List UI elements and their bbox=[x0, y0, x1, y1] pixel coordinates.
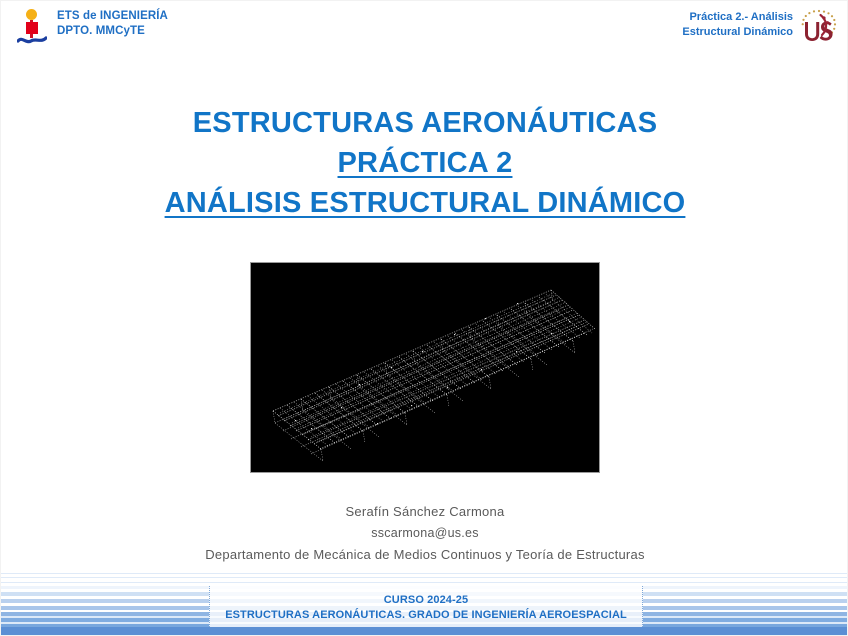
author-name: Serafín Sánchez Carmona bbox=[1, 501, 848, 523]
etsi-logo-square bbox=[26, 22, 38, 34]
title-block: ESTRUCTURAS AERONÁUTICAS PRÁCTICA 2 ANÁL… bbox=[1, 103, 848, 223]
author-department: Departamento de Mecánica de Medios Conti… bbox=[1, 544, 848, 566]
slide-footer: CURSO 2024-25 ESTRUCTURAS AERONÁUTICAS. … bbox=[1, 573, 848, 635]
header-department-code: DPTO. MMCyTE bbox=[57, 24, 168, 39]
header-practice-line1: Práctica 2.- Análisis bbox=[682, 10, 793, 25]
header-right-group: Práctica 2.- Análisis Estructural Dinámi… bbox=[682, 7, 839, 49]
header-right-text: Práctica 2.- Análisis Estructural Dinámi… bbox=[682, 7, 793, 39]
author-email: sscarmona@us.es bbox=[1, 523, 848, 544]
etsi-logo-wave bbox=[17, 35, 47, 46]
footer-separator-line-1 bbox=[1, 573, 848, 574]
author-block: Serafín Sánchez Carmona sscarmona@us.es … bbox=[1, 501, 848, 566]
universidad-de-sevilla-logo-icon bbox=[799, 7, 839, 49]
header-left-group: ETS de INGENIERÍA DPTO. MMCyTE bbox=[15, 7, 168, 47]
title-line-2-text: PRÁCTICA 2 bbox=[338, 147, 513, 179]
title-line-3-text: ANÁLISIS ESTRUCTURAL DINÁMICO bbox=[165, 187, 686, 219]
footer-separator-line-2 bbox=[1, 577, 848, 578]
slide-canvas: ETS de INGENIERÍA DPTO. MMCyTE Práctica … bbox=[0, 0, 848, 636]
title-line-3: ANÁLISIS ESTRUCTURAL DINÁMICO bbox=[1, 183, 848, 223]
header-left-text: ETS de INGENIERÍA DPTO. MMCyTE bbox=[57, 7, 168, 38]
header-practice-line2: Estructural Dinámico bbox=[682, 25, 793, 40]
title-line-1-text: ESTRUCTURAS AERONÁUTICAS bbox=[193, 107, 658, 139]
fem-mesh-wireframe-svg bbox=[251, 263, 599, 472]
etsi-logo-icon bbox=[15, 7, 49, 47]
etsi-logo-circle bbox=[26, 9, 37, 20]
header-school-name: ETS de INGENIERÍA bbox=[57, 9, 168, 24]
footer-info-panel: CURSO 2024-25 ESTRUCTURAS AERONÁUTICAS. … bbox=[209, 586, 643, 629]
title-line-2: PRÁCTICA 2 bbox=[1, 143, 848, 183]
wireframe-mesh-figure bbox=[250, 262, 600, 473]
title-line-1: ESTRUCTURAS AERONÁUTICAS bbox=[1, 103, 848, 143]
footer-subject-label: ESTRUCTURAS AERONÁUTICAS. GRADO DE INGEN… bbox=[225, 609, 627, 621]
footer-bottom-bar bbox=[1, 627, 848, 635]
footer-course-label: CURSO 2024-25 bbox=[384, 594, 468, 606]
footer-separator-line-3 bbox=[1, 582, 848, 583]
slide-header: ETS de INGENIERÍA DPTO. MMCyTE Práctica … bbox=[1, 1, 848, 59]
